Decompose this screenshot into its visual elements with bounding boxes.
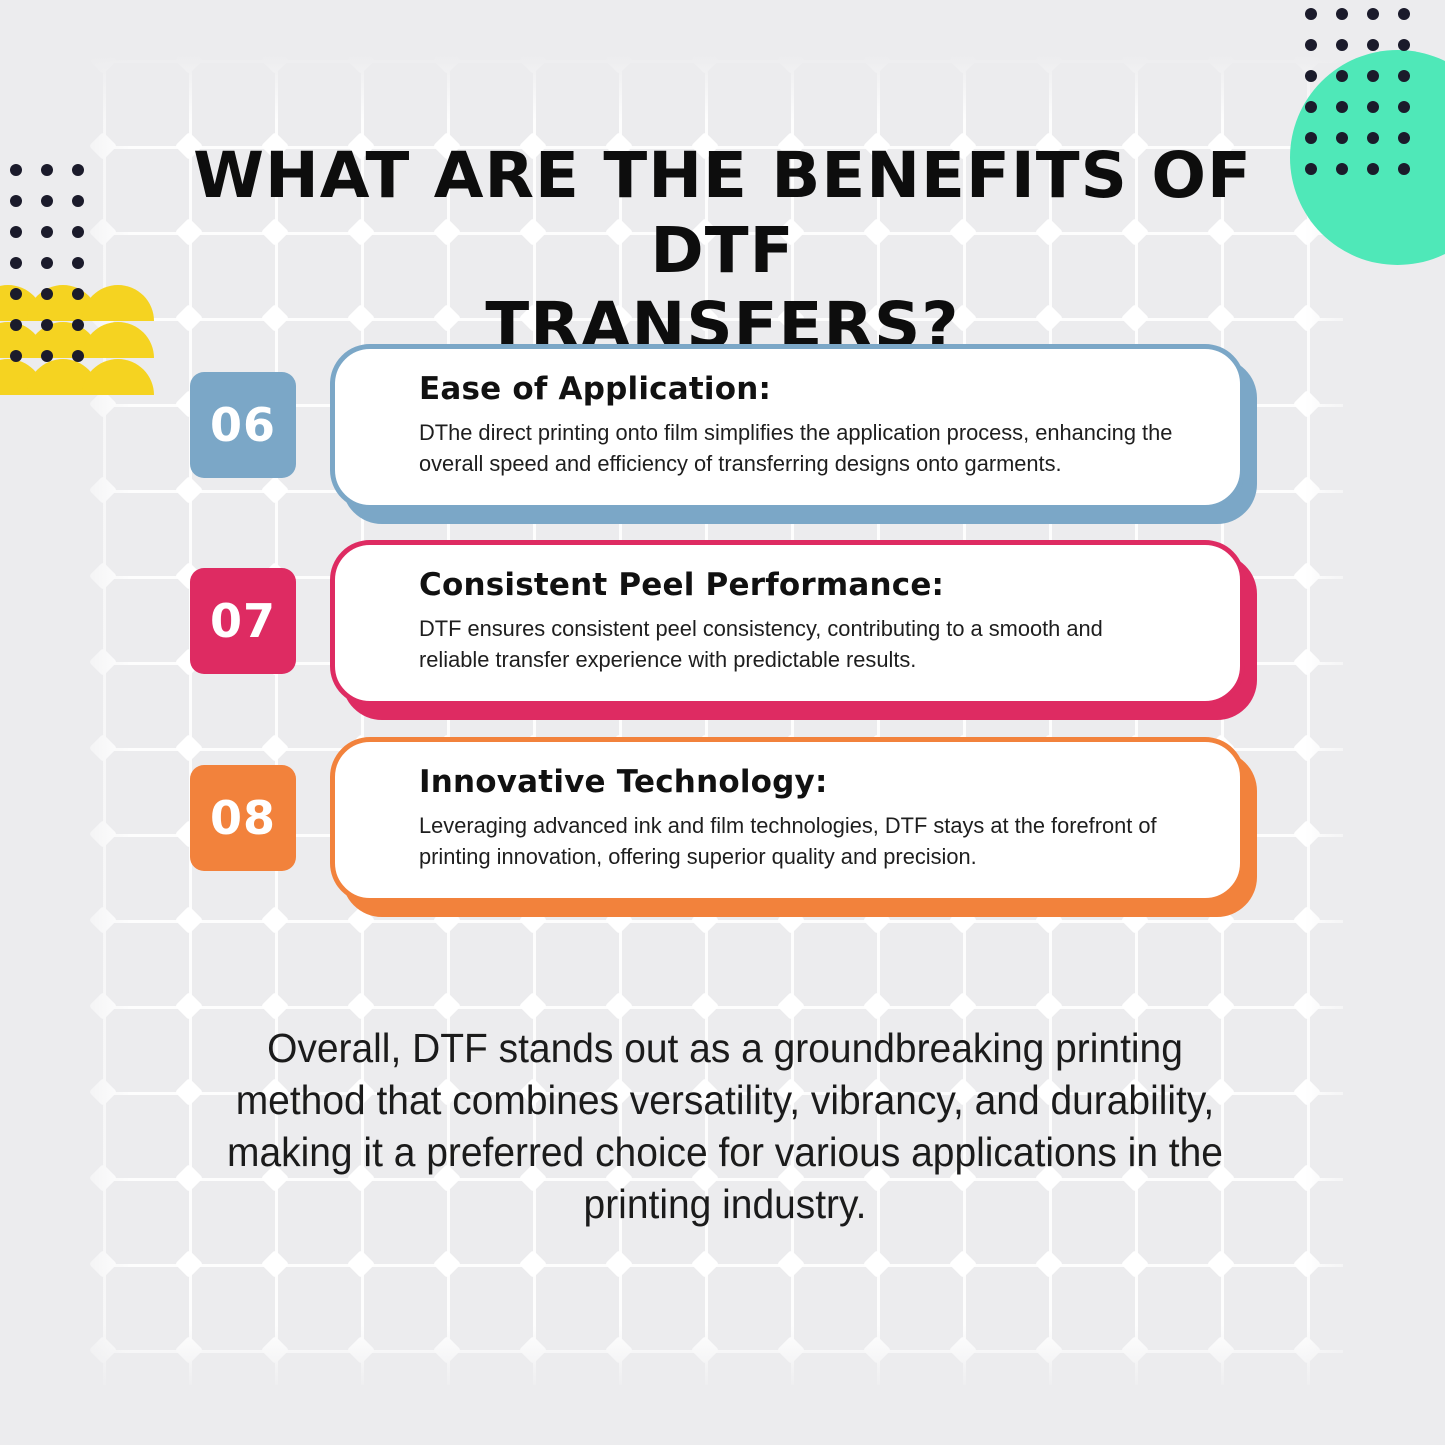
decorative-dot (41, 195, 53, 207)
grid-diamond (89, 1078, 117, 1106)
grid-diamond (605, 1250, 633, 1278)
grid-diamond (691, 46, 719, 74)
grid-diamond (519, 1250, 547, 1278)
grid-diamond (863, 46, 891, 74)
grid-diamond (949, 992, 977, 1020)
decorative-dot (1367, 8, 1379, 20)
decorative-dot (1367, 132, 1379, 144)
decorative-dot (41, 350, 53, 362)
card-title: Consistent Peel Performance: (419, 567, 1202, 603)
grid-diamond (863, 1250, 891, 1278)
grid-diamond (1293, 390, 1321, 418)
grid-diamond (261, 992, 289, 1020)
card-description: DThe direct printing onto film simplifie… (419, 417, 1179, 479)
card-description: DTF ensures consistent peel consistency,… (419, 613, 1179, 675)
decorative-dot (72, 350, 84, 362)
grid-diamond (89, 1250, 117, 1278)
grid-diamond (261, 1336, 289, 1364)
decorative-dot (10, 257, 22, 269)
page-title-line-1: WHAT ARE THE BENEFITS OF DTF (139, 138, 1307, 288)
grid-diamond (1035, 1250, 1063, 1278)
grid-diamond (89, 46, 117, 74)
decorative-dot (1367, 163, 1379, 175)
benefit-card[interactable]: Ease of Application:DThe direct printing… (330, 344, 1245, 510)
card-number-badge: 07 (190, 568, 296, 674)
card-number-label: 07 (210, 594, 276, 648)
grid-diamond (261, 906, 289, 934)
grid-diamond (89, 1164, 117, 1192)
grid-diamond (1207, 1336, 1235, 1364)
grid-diamond (605, 1336, 633, 1364)
grid-diamond (175, 1250, 203, 1278)
card-description: Leveraging advanced ink and film technol… (419, 810, 1179, 872)
grid-diamond (1121, 992, 1149, 1020)
grid-diamond (1121, 46, 1149, 74)
decorative-dot (72, 319, 84, 331)
grid-diamond (777, 1336, 805, 1364)
grid-diamond (347, 992, 375, 1020)
grid-diamond (1293, 648, 1321, 676)
grid-diamond (949, 46, 977, 74)
grid-diamond (605, 992, 633, 1020)
grid-diamond (1207, 46, 1235, 74)
grid-diamond (691, 1336, 719, 1364)
decorative-dot (1398, 8, 1410, 20)
grid-diamond (89, 562, 117, 590)
grid-diamond (863, 992, 891, 1020)
grid-diamond (949, 1250, 977, 1278)
grid-diamond (89, 906, 117, 934)
decorative-dot (1398, 101, 1410, 113)
decorative-dot (72, 226, 84, 238)
grid-diamond (89, 132, 117, 160)
grid-diamond (175, 992, 203, 1020)
grid-diamond (777, 46, 805, 74)
decorative-dot (1398, 132, 1410, 144)
decorative-dot (1336, 163, 1348, 175)
grid-diamond (1293, 562, 1321, 590)
grid-diamond (261, 46, 289, 74)
decorative-dot (41, 226, 53, 238)
decorative-dot (72, 257, 84, 269)
decorative-dot (10, 350, 22, 362)
decorative-dot (10, 226, 22, 238)
grid-diamond (89, 1336, 117, 1364)
grid-diamond (261, 476, 289, 504)
decorative-dot (10, 288, 22, 300)
decorative-dot (1305, 39, 1317, 51)
card-number-badge: 08 (190, 765, 296, 871)
decorative-dot (1336, 101, 1348, 113)
grid-diamond (89, 734, 117, 762)
decorative-dot (41, 257, 53, 269)
decorative-dot (1305, 163, 1317, 175)
decorative-dot (10, 164, 22, 176)
grid-diamond (261, 1250, 289, 1278)
grid-diamond (1293, 734, 1321, 762)
grid-diamond (1293, 1250, 1321, 1278)
grid-diamond (1121, 1250, 1149, 1278)
grid-diamond (347, 1250, 375, 1278)
summary-paragraph: Overall, DTF stands out as a groundbreak… (198, 1022, 1253, 1230)
decorative-dot (72, 164, 84, 176)
grid-diamond (1293, 1164, 1321, 1192)
decorative-dot (1336, 8, 1348, 20)
grid-diamond (175, 1336, 203, 1364)
grid-diamond (519, 46, 547, 74)
grid-diamond (175, 476, 203, 504)
grid-diamond (175, 46, 203, 74)
grid-diamond (1121, 1336, 1149, 1364)
grid-diamond (777, 1250, 805, 1278)
infographic-canvas: WHAT ARE THE BENEFITS OF DTF TRANSFERS? … (0, 0, 1445, 1445)
decorative-dot (1367, 70, 1379, 82)
decorative-dot (1398, 70, 1410, 82)
decorative-dot (72, 288, 84, 300)
grid-diamond (605, 46, 633, 74)
grid-diamond (1207, 1250, 1235, 1278)
grid-diamond (519, 992, 547, 1020)
decorative-dot (1367, 101, 1379, 113)
grid-diamond (777, 992, 805, 1020)
decorative-dot (10, 195, 22, 207)
grid-diamond (347, 1336, 375, 1364)
grid-diamond (175, 734, 203, 762)
card-title: Ease of Application: (419, 371, 1202, 407)
grid-diamond (1293, 992, 1321, 1020)
grid-diamond (433, 1250, 461, 1278)
card-number-label: 08 (210, 791, 276, 845)
benefit-card[interactable]: Consistent Peel Performance:DTF ensures … (330, 540, 1245, 706)
grid-diamond (1293, 906, 1321, 934)
grid-diamond (1035, 46, 1063, 74)
decorative-dot (1336, 132, 1348, 144)
decorative-dot (1336, 70, 1348, 82)
grid-diamond (1035, 1336, 1063, 1364)
decorative-dot (1398, 163, 1410, 175)
grid-diamond (1293, 820, 1321, 848)
grid-diamond (519, 1336, 547, 1364)
grid-diamond (89, 992, 117, 1020)
grid-diamond (1207, 992, 1235, 1020)
grid-diamond (949, 1336, 977, 1364)
decorative-dot (1305, 132, 1317, 144)
benefit-card[interactable]: Innovative Technology:Leveraging advance… (330, 737, 1245, 903)
grid-diamond (1293, 1336, 1321, 1364)
grid-diamond (1035, 992, 1063, 1020)
grid-diamond (433, 1336, 461, 1364)
grid-diamond (175, 906, 203, 934)
decorative-dot (1367, 39, 1379, 51)
decorative-dot (41, 319, 53, 331)
grid-diamond (863, 1336, 891, 1364)
decorative-dot (1305, 70, 1317, 82)
decorative-dot (10, 319, 22, 331)
grid-diamond (691, 1250, 719, 1278)
decorative-dot (72, 195, 84, 207)
card-number-label: 06 (210, 398, 276, 452)
decorative-dot (1305, 8, 1317, 20)
decorative-dot (1305, 101, 1317, 113)
dot-grid-top-right (1295, 0, 1445, 185)
grid-diamond (89, 820, 117, 848)
grid-diamond (433, 992, 461, 1020)
grid-diamond (1293, 1078, 1321, 1106)
decorative-dot (41, 288, 53, 300)
decorative-dot (1398, 39, 1410, 51)
card-number-badge: 06 (190, 372, 296, 478)
card-title: Innovative Technology: (419, 764, 1202, 800)
decorative-dot (41, 164, 53, 176)
grid-diamond (1293, 476, 1321, 504)
grid-diamond (691, 992, 719, 1020)
grid-diamond (347, 46, 375, 74)
decorative-dot (1336, 39, 1348, 51)
page-title: WHAT ARE THE BENEFITS OF DTF TRANSFERS? (139, 138, 1307, 363)
grid-diamond (89, 476, 117, 504)
grid-diamond (89, 648, 117, 676)
grid-diamond (261, 734, 289, 762)
dot-grid-left (0, 160, 100, 370)
grid-diamond (433, 46, 461, 74)
